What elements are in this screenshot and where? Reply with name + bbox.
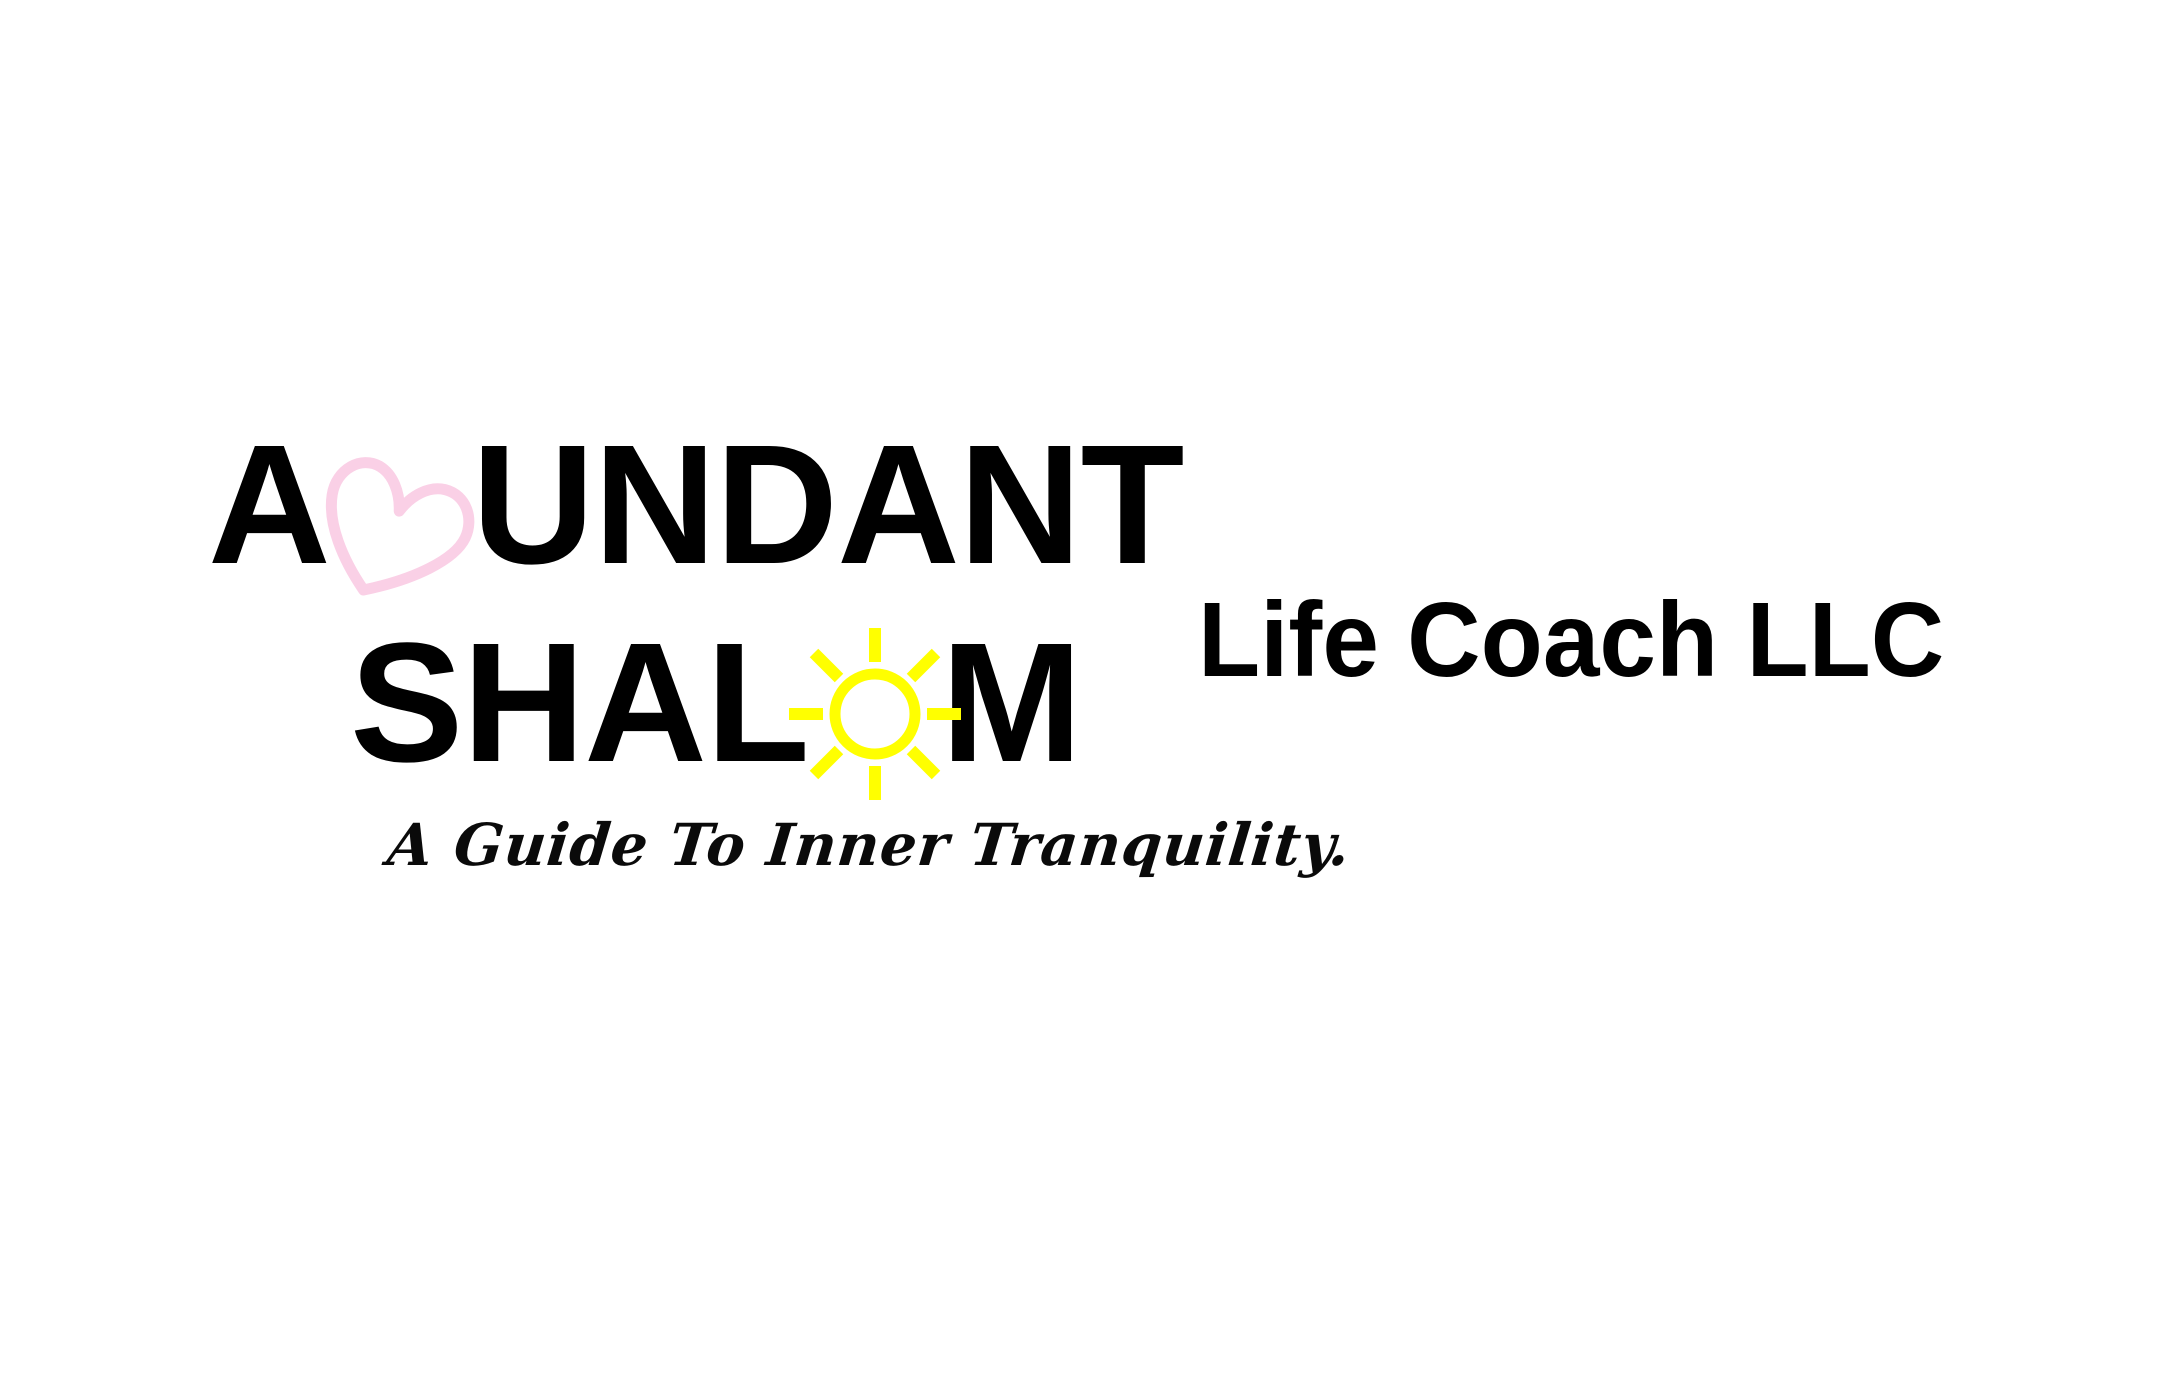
logo-canvas: A UNDANT SHAL (0, 0, 2160, 1373)
brand-line-abundant: A UNDANT (208, 420, 1183, 590)
brand-text-shal: SHAL (350, 618, 809, 788)
brand-line-shalom: SHAL M (350, 618, 1081, 793)
brand-text-a: A (208, 420, 330, 590)
heart-icon-svg (308, 427, 494, 614)
sun-icon (809, 618, 941, 793)
sun-icon-svg (771, 610, 979, 818)
brand-text-undant: UNDANT (472, 420, 1184, 590)
business-suffix: Life Coach LLC (1198, 584, 1944, 696)
heart-icon (332, 420, 468, 590)
logo-wordmark: A UNDANT SHAL (0, 0, 2160, 1373)
tagline: A Guide To Inner Tranquility. (384, 808, 1354, 882)
